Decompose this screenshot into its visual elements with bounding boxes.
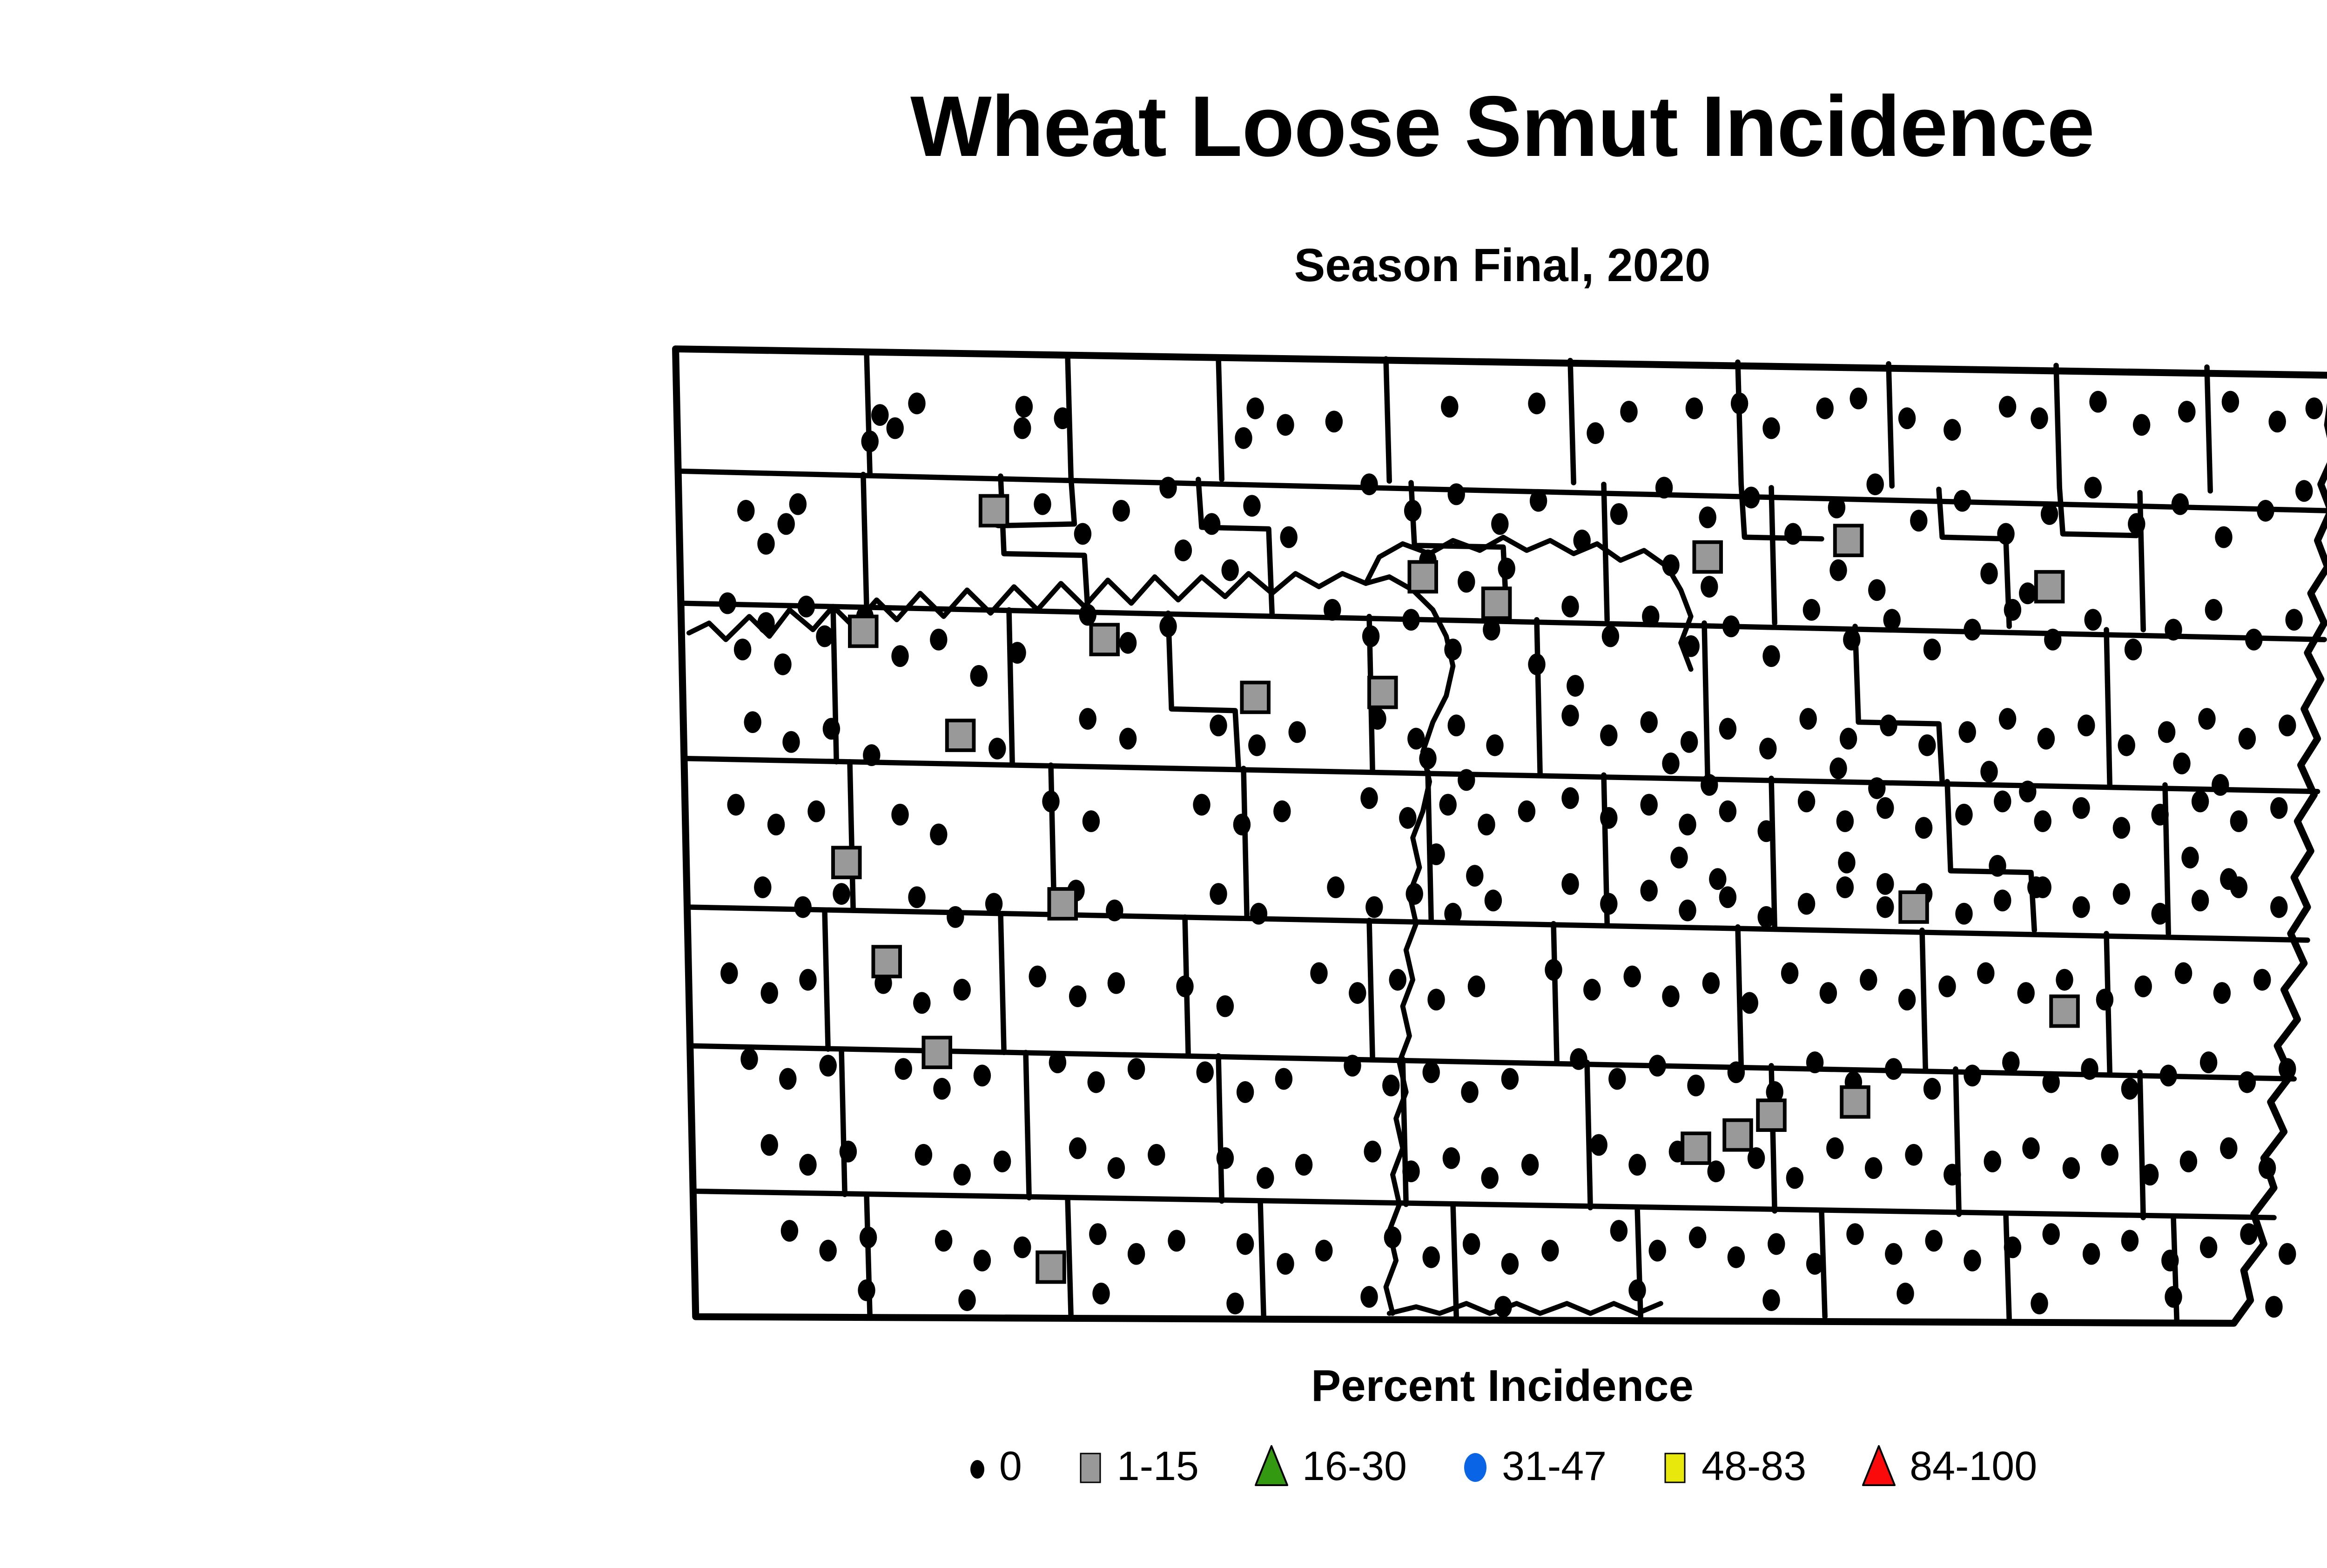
map-point-zero xyxy=(2239,728,2256,750)
map-point-zero xyxy=(953,979,970,1001)
map-point-zero xyxy=(737,500,754,522)
map-point-zero xyxy=(2121,1078,2139,1100)
map-point-zero xyxy=(2019,582,2036,604)
map-point-1-15 xyxy=(1091,625,1118,654)
map-point-zero xyxy=(1491,513,1508,535)
map-point-zero xyxy=(1324,599,1341,621)
map-point-zero xyxy=(2205,599,2222,621)
page-subtitle: Season Final, 2020 xyxy=(0,242,2327,289)
square-icon xyxy=(1076,1440,1105,1492)
map-point-zero xyxy=(833,883,850,905)
map-point-zero xyxy=(1083,810,1100,832)
map-point-zero xyxy=(2038,728,2055,750)
map-point-zero xyxy=(1518,801,1535,822)
map-point-zero xyxy=(2270,896,2287,918)
map-point-zero xyxy=(1463,1233,1480,1255)
map-point-1-15 xyxy=(1037,1252,1064,1282)
map-point-zero xyxy=(1069,985,1086,1007)
map-point-1-15 xyxy=(923,1037,950,1067)
map-point-zero xyxy=(1964,619,1981,640)
map-point-zero xyxy=(1977,962,1994,984)
map-point-zero xyxy=(1868,579,1885,601)
map-point-zero xyxy=(819,1240,836,1262)
map-point-zero xyxy=(1108,1157,1125,1179)
county-boundaries xyxy=(679,352,2327,1320)
map-point-zero xyxy=(1360,1286,1378,1308)
map-point-zero xyxy=(2198,708,2215,730)
map-point-zero xyxy=(1719,718,1736,740)
map-point-zero xyxy=(1277,1253,1294,1275)
map-point-zero xyxy=(2031,1292,2048,1314)
map-point-zero xyxy=(1042,791,1059,813)
map-point-zero xyxy=(1868,777,1885,799)
map-point-zero xyxy=(767,814,785,835)
map-point-zero xyxy=(1481,1167,1498,1189)
map-point-zero xyxy=(2128,513,2145,535)
map-point-zero xyxy=(1210,714,1227,736)
map-point-zero xyxy=(799,969,816,991)
map-point-zero xyxy=(1196,1061,1213,1083)
map-point-zero xyxy=(2279,1243,2296,1265)
map-point-zero xyxy=(2056,969,2073,991)
map-point-zero xyxy=(2081,1058,2098,1080)
map-point-zero xyxy=(1898,407,1916,429)
map-point-zero xyxy=(1910,510,1927,532)
map-point-zero xyxy=(1402,1160,1419,1182)
map-point-zero xyxy=(2125,639,2142,660)
map-point-1-15 xyxy=(947,720,974,750)
map-point-zero xyxy=(2113,817,2130,839)
map-point-zero xyxy=(1829,758,1847,780)
map-point-zero xyxy=(2134,976,2152,997)
map-point-zero xyxy=(1679,814,1696,835)
map-point-zero xyxy=(794,896,811,918)
map-point-zero xyxy=(1049,1051,1066,1073)
legend-item[interactable]: 48-83 xyxy=(1661,1440,1806,1492)
map-point-zero xyxy=(1994,889,2011,911)
map-point-zero xyxy=(1310,962,1327,984)
map-point-zero xyxy=(1275,1068,1292,1090)
map-point-zero xyxy=(760,1134,778,1156)
map-point-zero xyxy=(1828,497,1845,518)
map-point-zero xyxy=(1798,791,1815,813)
map-point-zero xyxy=(994,1151,1011,1172)
map-point-zero xyxy=(2279,714,2296,736)
map-point-zero xyxy=(1277,414,1294,436)
map-point-zero xyxy=(1954,490,1971,512)
map-point-zero xyxy=(1820,982,1837,1004)
map-point-zero xyxy=(1836,876,1854,898)
map-point-zero xyxy=(1885,1243,1902,1265)
map-point-zero xyxy=(2072,797,2090,819)
map-point-zero xyxy=(1699,506,1716,528)
map-point-zero xyxy=(1610,503,1628,525)
map-point-zero xyxy=(1885,1058,1902,1080)
map-point-zero xyxy=(1628,1279,1646,1301)
legend-item[interactable]: 1-15 xyxy=(1076,1440,1199,1492)
map-point-zero xyxy=(1422,1061,1439,1083)
map-point-zero xyxy=(1360,473,1378,495)
map-point-1-15 xyxy=(1724,1120,1751,1150)
map-point-zero xyxy=(886,417,903,439)
map-point-zero xyxy=(1731,392,1748,414)
map-point-1-15 xyxy=(1842,1087,1869,1117)
map-point-1-15 xyxy=(1049,889,1076,919)
map-point-zero xyxy=(1728,1061,1745,1083)
map-point-zero xyxy=(1964,1065,1981,1087)
map-point-zero xyxy=(935,1230,952,1252)
map-point-zero xyxy=(2089,391,2106,413)
map-point-zero xyxy=(1217,1147,1234,1169)
map-point-zero xyxy=(1148,1144,1165,1166)
map-point-zero xyxy=(1243,495,1260,517)
map-point-zero xyxy=(1984,1151,2001,1172)
map-point-zero xyxy=(891,804,908,826)
map-svg xyxy=(666,326,2327,1350)
map-point-zero xyxy=(2121,1230,2139,1252)
map-point-zero xyxy=(1483,619,1500,640)
map-point-zero xyxy=(1404,500,1421,522)
map-point-zero xyxy=(1327,876,1344,898)
figure-root: Wheat Loose Smut Incidence Season Final,… xyxy=(0,0,2327,1568)
map-point-zero xyxy=(1389,969,1406,991)
map-point-zero xyxy=(947,906,964,928)
map-point-zero xyxy=(2002,1051,2019,1073)
map-point-zero xyxy=(1280,526,1297,548)
map-point-zero xyxy=(2220,868,2237,890)
map-point-zero xyxy=(781,1220,798,1242)
map-point-zero xyxy=(1866,473,1883,495)
map-point-zero xyxy=(2004,599,2021,621)
map-point-zero xyxy=(2151,903,2168,925)
map-point-zero xyxy=(1466,865,1483,887)
map-point-1-15 xyxy=(1835,525,1862,555)
map-point-1-15 xyxy=(1900,892,1927,922)
map-point-zero xyxy=(757,612,774,634)
map-point-zero xyxy=(2019,781,2036,802)
map-point-zero xyxy=(819,1055,836,1077)
legend-item-label: 84-100 xyxy=(1910,1446,2037,1487)
legend-item-label: 0 xyxy=(999,1446,1022,1487)
map-point-zero xyxy=(1541,1240,1559,1262)
map-point-zero xyxy=(2165,619,2182,640)
map-point-zero xyxy=(1876,873,1894,895)
map-point-zero xyxy=(1128,1058,1145,1080)
map-point-zero xyxy=(1958,721,1976,743)
map-point-zero xyxy=(789,493,807,515)
map-point-zero xyxy=(1915,817,1932,839)
map-point-zero xyxy=(1687,1075,1704,1097)
map-point-1-15 xyxy=(1409,562,1436,592)
map-point-zero xyxy=(1458,571,1475,593)
map-point-zero xyxy=(1762,1289,1780,1311)
map-point-zero xyxy=(1288,721,1305,743)
map-point-zero xyxy=(891,645,908,667)
map-point-zero xyxy=(1846,1223,1863,1245)
map-point-zero xyxy=(1159,615,1177,637)
map-point-zero xyxy=(1640,794,1657,816)
map-point-zero xyxy=(1108,972,1125,994)
map-point-zero xyxy=(2159,1065,2177,1087)
map-point-zero xyxy=(1623,966,1641,988)
map-point-zero xyxy=(1217,996,1234,1017)
map-point-zero xyxy=(1362,626,1379,647)
map-point-zero xyxy=(1682,635,1699,657)
map-point-zero xyxy=(720,962,738,984)
map-point-zero xyxy=(2257,500,2274,522)
map-point-zero xyxy=(933,1078,950,1100)
map-point-zero xyxy=(1570,1048,1587,1070)
map-point-zero xyxy=(1364,1141,1381,1163)
map-point-zero xyxy=(1079,604,1096,626)
legend-items: 01-1516-3031-4748-8384-100 xyxy=(0,1440,2327,1492)
map-point-zero xyxy=(760,982,778,1004)
map-point-zero xyxy=(1836,810,1854,832)
map-point-zero xyxy=(1203,513,1220,535)
map-point-zero xyxy=(1662,554,1679,576)
map-point-zero xyxy=(2270,797,2287,819)
map-point-zero xyxy=(863,744,880,766)
north-dakota-map xyxy=(666,326,2327,1350)
map-point-zero xyxy=(930,629,947,651)
map-point-zero xyxy=(2022,1137,2039,1159)
map-point-zero xyxy=(1628,1154,1646,1176)
map-point-zero xyxy=(1528,653,1545,675)
map-point-zero xyxy=(1686,397,1703,419)
map-point-zero xyxy=(2084,609,2101,631)
map-point-zero xyxy=(727,794,744,816)
map-point-zero xyxy=(2220,1137,2237,1159)
map-point-zero xyxy=(930,823,947,845)
map-point-zero xyxy=(861,431,878,452)
map-point-zero xyxy=(1406,883,1423,905)
map-point-zero xyxy=(744,711,761,733)
map-point-zero xyxy=(1016,396,1033,417)
map-point-zero xyxy=(1876,797,1894,819)
map-point-zero xyxy=(1701,576,1718,598)
map-point-1-15 xyxy=(1369,678,1396,707)
map-point-1-15 xyxy=(981,496,1008,525)
legend-item[interactable]: 31-47 xyxy=(1461,1440,1607,1492)
legend-item[interactable]: 0 xyxy=(968,1440,1022,1492)
legend-title: Percent Incidence xyxy=(0,1364,2327,1408)
page-title: Wheat Loose Smut Incidence xyxy=(0,84,2327,170)
map-point-zero xyxy=(1444,639,1461,660)
map-point-zero xyxy=(1799,708,1816,730)
map-point-zero xyxy=(1883,609,1900,631)
map-point-zero xyxy=(2141,1164,2159,1185)
map-point-zero xyxy=(1273,801,1291,822)
map-point-zero xyxy=(1119,728,1137,750)
map-point-zero xyxy=(2239,1071,2256,1093)
map-point-zero xyxy=(1494,1296,1512,1318)
map-point-zero xyxy=(1250,903,1267,925)
map-point-zero xyxy=(1843,629,1860,651)
map-point-zero xyxy=(1980,563,1997,585)
map-point-zero xyxy=(1762,645,1780,667)
map-point-zero xyxy=(1681,731,1698,753)
triangle-icon xyxy=(1860,1440,1897,1492)
map-point-zero xyxy=(1159,477,1177,498)
map-point-zero xyxy=(1944,419,1961,441)
map-point-zero xyxy=(871,404,888,426)
legend-item-label: 16-30 xyxy=(1302,1446,1407,1487)
map-point-zero xyxy=(1918,734,1936,756)
map-point-zero xyxy=(1248,734,1265,756)
map-point-zero xyxy=(2180,1151,2197,1172)
map-point-zero xyxy=(1806,1051,1823,1073)
map-point-zero xyxy=(1840,728,1857,750)
map-point-zero xyxy=(1407,728,1425,750)
map-point-zero xyxy=(1210,883,1227,905)
map-point-zero xyxy=(1923,1078,1941,1100)
map-point-zero xyxy=(1999,708,2016,730)
map-point-zero xyxy=(1955,804,1972,826)
map-point-zero xyxy=(1458,769,1475,791)
map-point-zero xyxy=(1944,1164,1961,1185)
map-point-zero xyxy=(1014,417,1031,439)
map-point-zero xyxy=(1233,814,1251,835)
map-point-1-15 xyxy=(1758,1100,1785,1130)
map-point-zero xyxy=(1786,1167,1803,1189)
map-point-zero xyxy=(1128,1243,1145,1265)
legend-item[interactable]: 16-30 xyxy=(1253,1440,1407,1492)
map-point-zero xyxy=(2158,721,2175,743)
map-point-zero xyxy=(1325,411,1343,432)
map-point-zero xyxy=(1741,992,1758,1014)
map-point-zero xyxy=(1602,626,1619,647)
map-point-zero xyxy=(1419,747,1436,769)
map-point-zero xyxy=(1486,734,1503,756)
map-point-zero xyxy=(1600,807,1617,829)
map-point-zero xyxy=(1439,794,1456,816)
map-point-zero xyxy=(1427,843,1445,865)
map-point-zero xyxy=(1029,966,1046,988)
map-point-zero xyxy=(1561,596,1579,618)
map-point-zero xyxy=(1662,985,1679,1007)
map-point-zero xyxy=(1382,1075,1399,1097)
map-point-zero xyxy=(734,639,751,660)
map-point-zero xyxy=(799,1154,816,1176)
map-point-zero xyxy=(1709,868,1726,890)
map-point-zero xyxy=(1798,893,1815,915)
map-point-zero xyxy=(1860,969,1877,991)
map-point-zero xyxy=(1422,1246,1439,1268)
map-point-zero xyxy=(1369,708,1386,730)
map-point-zero xyxy=(1447,484,1465,505)
map-point-zero xyxy=(1349,982,1366,1004)
map-point-zero xyxy=(1829,559,1847,581)
map-point-1-15 xyxy=(850,617,877,646)
map-point-zero xyxy=(974,1065,991,1087)
map-point-zero xyxy=(2279,1058,2296,1080)
map-point-zero xyxy=(953,1164,970,1185)
map-point-zero xyxy=(823,718,840,740)
map-point-zero xyxy=(2113,883,2130,905)
map-point-zero xyxy=(1816,397,1833,419)
map-point-zero xyxy=(2042,1223,2059,1245)
legend-item[interactable]: 84-100 xyxy=(1860,1440,2037,1492)
map-point-zero xyxy=(1689,1226,1706,1248)
map-point-zero xyxy=(2175,962,2192,984)
map-point-zero xyxy=(1573,530,1590,552)
circle-icon xyxy=(1461,1440,1490,1492)
map-point-zero xyxy=(1501,1253,1519,1275)
map-point-zero xyxy=(860,1226,877,1248)
dot-icon xyxy=(968,1440,987,1492)
map-point-zero xyxy=(2078,714,2095,736)
map-point-zero xyxy=(858,1279,875,1301)
map-point-zero xyxy=(1443,1147,1460,1169)
map-point-zero xyxy=(754,876,771,898)
map-point-zero xyxy=(2133,414,2150,436)
map-point-zero xyxy=(1235,427,1252,449)
map-point-zero xyxy=(777,513,794,535)
map-point-zero xyxy=(1119,632,1137,654)
map-point-zero xyxy=(985,893,1002,915)
map-point-zero xyxy=(1897,1283,1914,1305)
map-point-zero xyxy=(774,653,791,675)
map-point-zero xyxy=(1034,493,1051,515)
map-point-zero xyxy=(1719,801,1736,822)
map-point-zero xyxy=(1175,539,1192,561)
map-point-zero xyxy=(798,596,815,618)
map-point-zero xyxy=(779,1068,796,1090)
map-point-zero xyxy=(1583,979,1601,1001)
map-point-zero xyxy=(1079,708,1096,730)
map-point-zero xyxy=(1485,889,1502,911)
map-point-zero xyxy=(2044,629,2061,651)
map-point-zero xyxy=(2192,889,2209,911)
map-point-zero xyxy=(2017,982,2034,1004)
map-point-zero xyxy=(908,392,925,414)
map-point-zero xyxy=(2192,791,2209,813)
map-point-zero xyxy=(840,1141,857,1163)
map-point-zero xyxy=(1806,1253,1823,1275)
map-point-zero xyxy=(1662,753,1679,774)
map-point-zero xyxy=(1722,615,1740,637)
map-point-zero xyxy=(1344,1055,1361,1077)
map-point-zero xyxy=(1444,903,1461,925)
map-point-zero xyxy=(1237,1233,1254,1255)
map-point-zero xyxy=(1849,388,1867,410)
legend-item-label: 31-47 xyxy=(1502,1446,1607,1487)
map-point-zero xyxy=(2212,774,2229,796)
map-point-zero xyxy=(1221,559,1238,581)
map-point-zero xyxy=(974,1250,991,1272)
map-point-zero xyxy=(1176,976,1193,997)
map-point-zero xyxy=(1069,1137,1086,1159)
map-point-zero xyxy=(1226,1292,1244,1314)
map-point-zero xyxy=(757,533,774,555)
map-point-zero xyxy=(1168,1230,1185,1252)
map-point-zero xyxy=(2240,1223,2257,1245)
map-point-zero xyxy=(1880,714,1897,736)
map-point-zero xyxy=(1826,1137,1843,1159)
map-point-zero xyxy=(1670,847,1688,868)
map-point-zero xyxy=(2084,477,2101,498)
map-point-1-15 xyxy=(1483,588,1510,618)
map-point-zero xyxy=(2165,1286,2182,1308)
map-point-zero xyxy=(1640,880,1657,902)
map-point-zero xyxy=(1365,896,1383,918)
map-point-zero xyxy=(1528,392,1545,414)
map-point-zero xyxy=(1561,873,1579,895)
map-point-zero xyxy=(2245,629,2262,651)
map-point-zero xyxy=(2151,804,2168,826)
map-point-zero xyxy=(2306,397,2323,419)
map-point-zero xyxy=(1905,1144,1922,1166)
